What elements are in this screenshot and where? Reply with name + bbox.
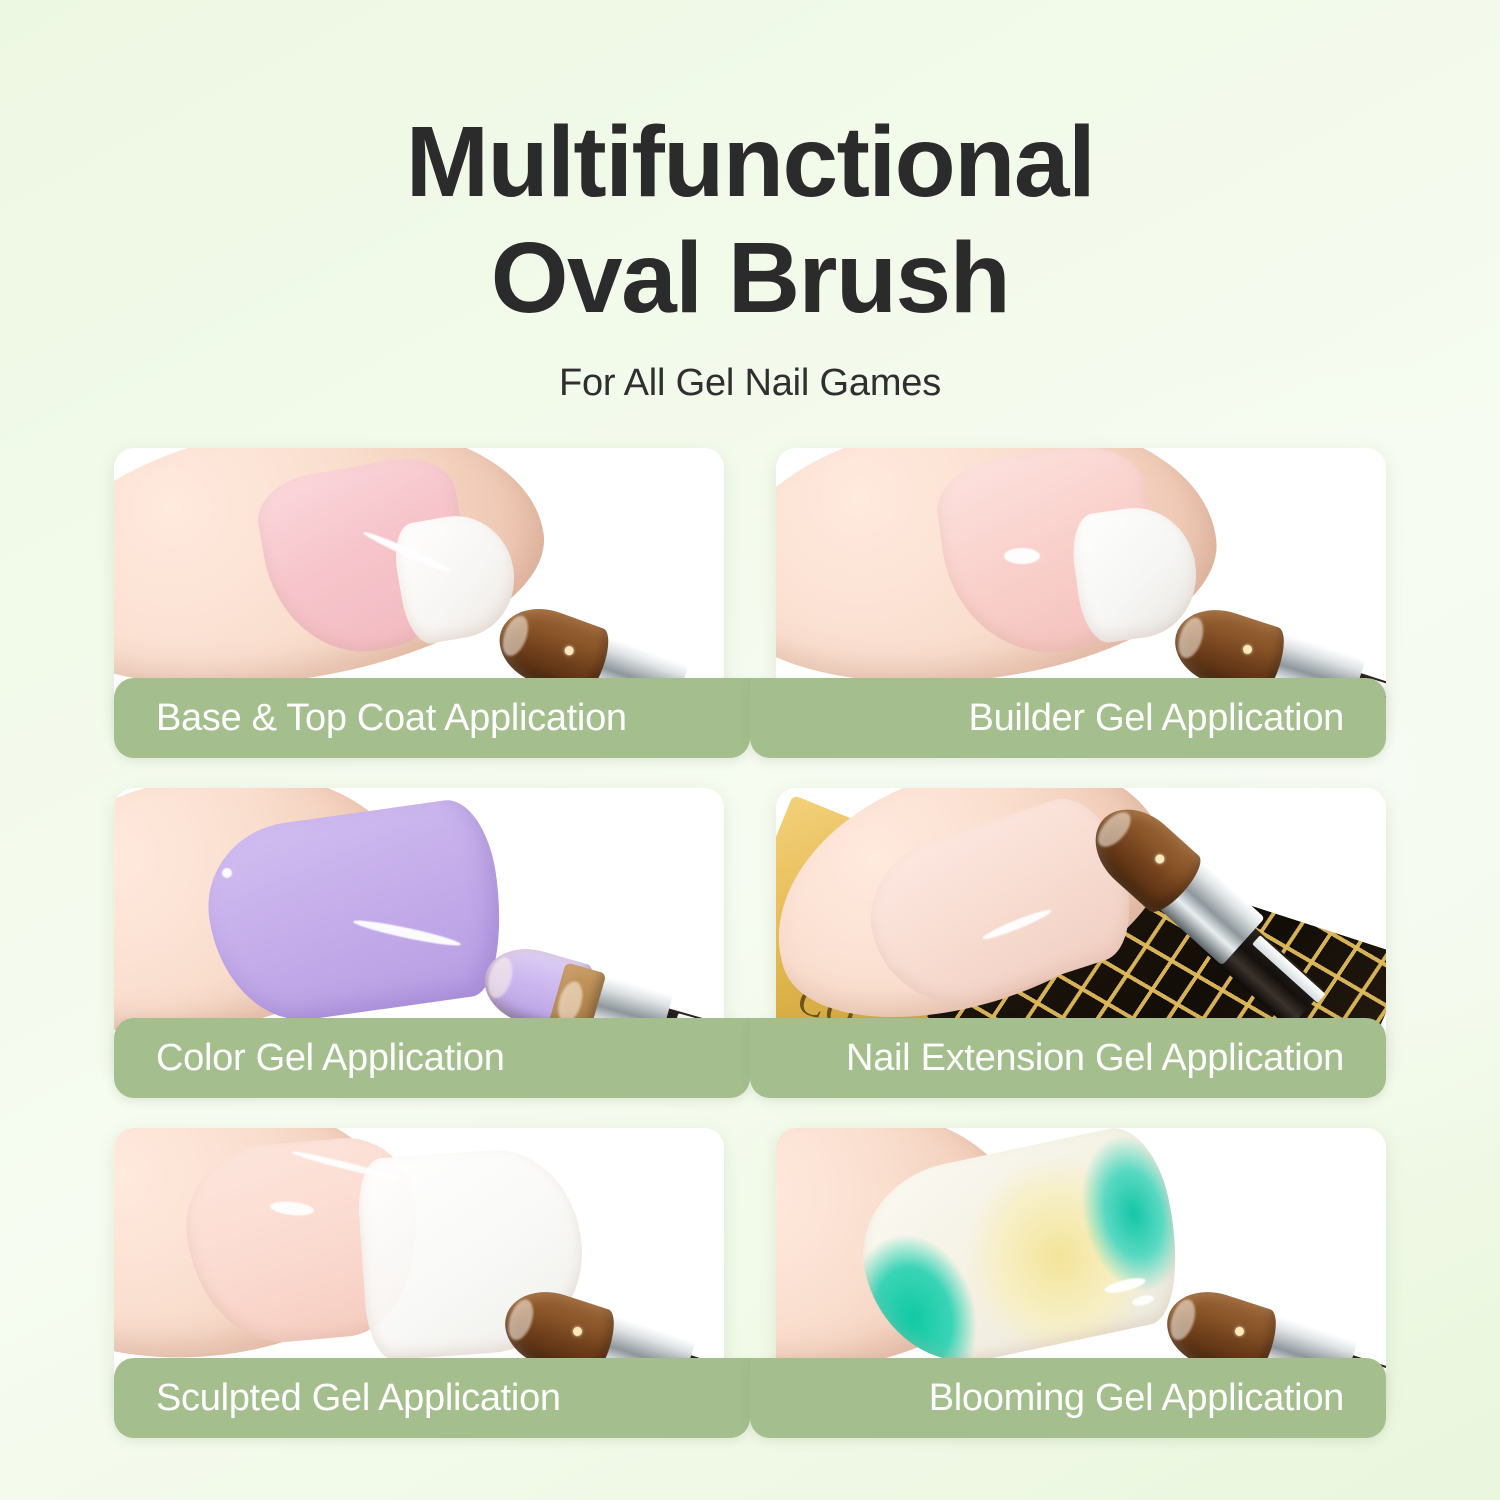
card-label-text: Sculpted Gel Application (156, 1377, 561, 1420)
card-label-text: Blooming Gel Application (929, 1377, 1344, 1420)
card-label-builder-gel: Builder Gel Application (750, 678, 1386, 758)
card-label-blooming-gel: Blooming Gel Application (750, 1358, 1386, 1438)
feature-card-base-top-coat[interactable]: Base & Top Coat Application (114, 448, 724, 736)
card-label-text: Color Gel Application (156, 1037, 505, 1080)
page-header: Multifunctional Oval Brush For All Gel N… (0, 0, 1500, 405)
feature-card-color-gel[interactable]: Color Gel Application (114, 788, 724, 1076)
card-label-color-gel: Color Gel Application (114, 1018, 750, 1098)
nail-shine-small (222, 868, 232, 878)
title-line-2: Oval Brush (0, 220, 1500, 336)
feature-card-sculpted-gel[interactable]: Sculpted Gel Application (114, 1128, 724, 1416)
card-label-text: Builder Gel Application (969, 697, 1344, 740)
feature-card-blooming-gel[interactable]: Blooming Gel Application (776, 1128, 1386, 1416)
card-label-text: Base & Top Coat Application (156, 697, 627, 740)
feature-card-builder-gel[interactable]: Builder Gel Application (776, 448, 1386, 736)
feature-card-nail-extension-gel[interactable]: CO Nail Extension Gel Application (776, 788, 1386, 1076)
card-label-base-top-coat: Base & Top Coat Application (114, 678, 750, 758)
page-subtitle: For All Gel Nail Games (0, 362, 1500, 405)
card-label-nail-extension-gel: Nail Extension Gel Application (750, 1018, 1386, 1098)
feature-card-grid: Base & Top Coat Application Builder Gel … (0, 448, 1500, 1416)
nail-shine (1004, 548, 1040, 564)
page-title: Multifunctional Oval Brush (0, 104, 1500, 336)
card-label-sculpted-gel: Sculpted Gel Application (114, 1358, 750, 1438)
card-label-text: Nail Extension Gel Application (846, 1037, 1344, 1080)
title-line-1: Multifunctional (0, 104, 1500, 220)
